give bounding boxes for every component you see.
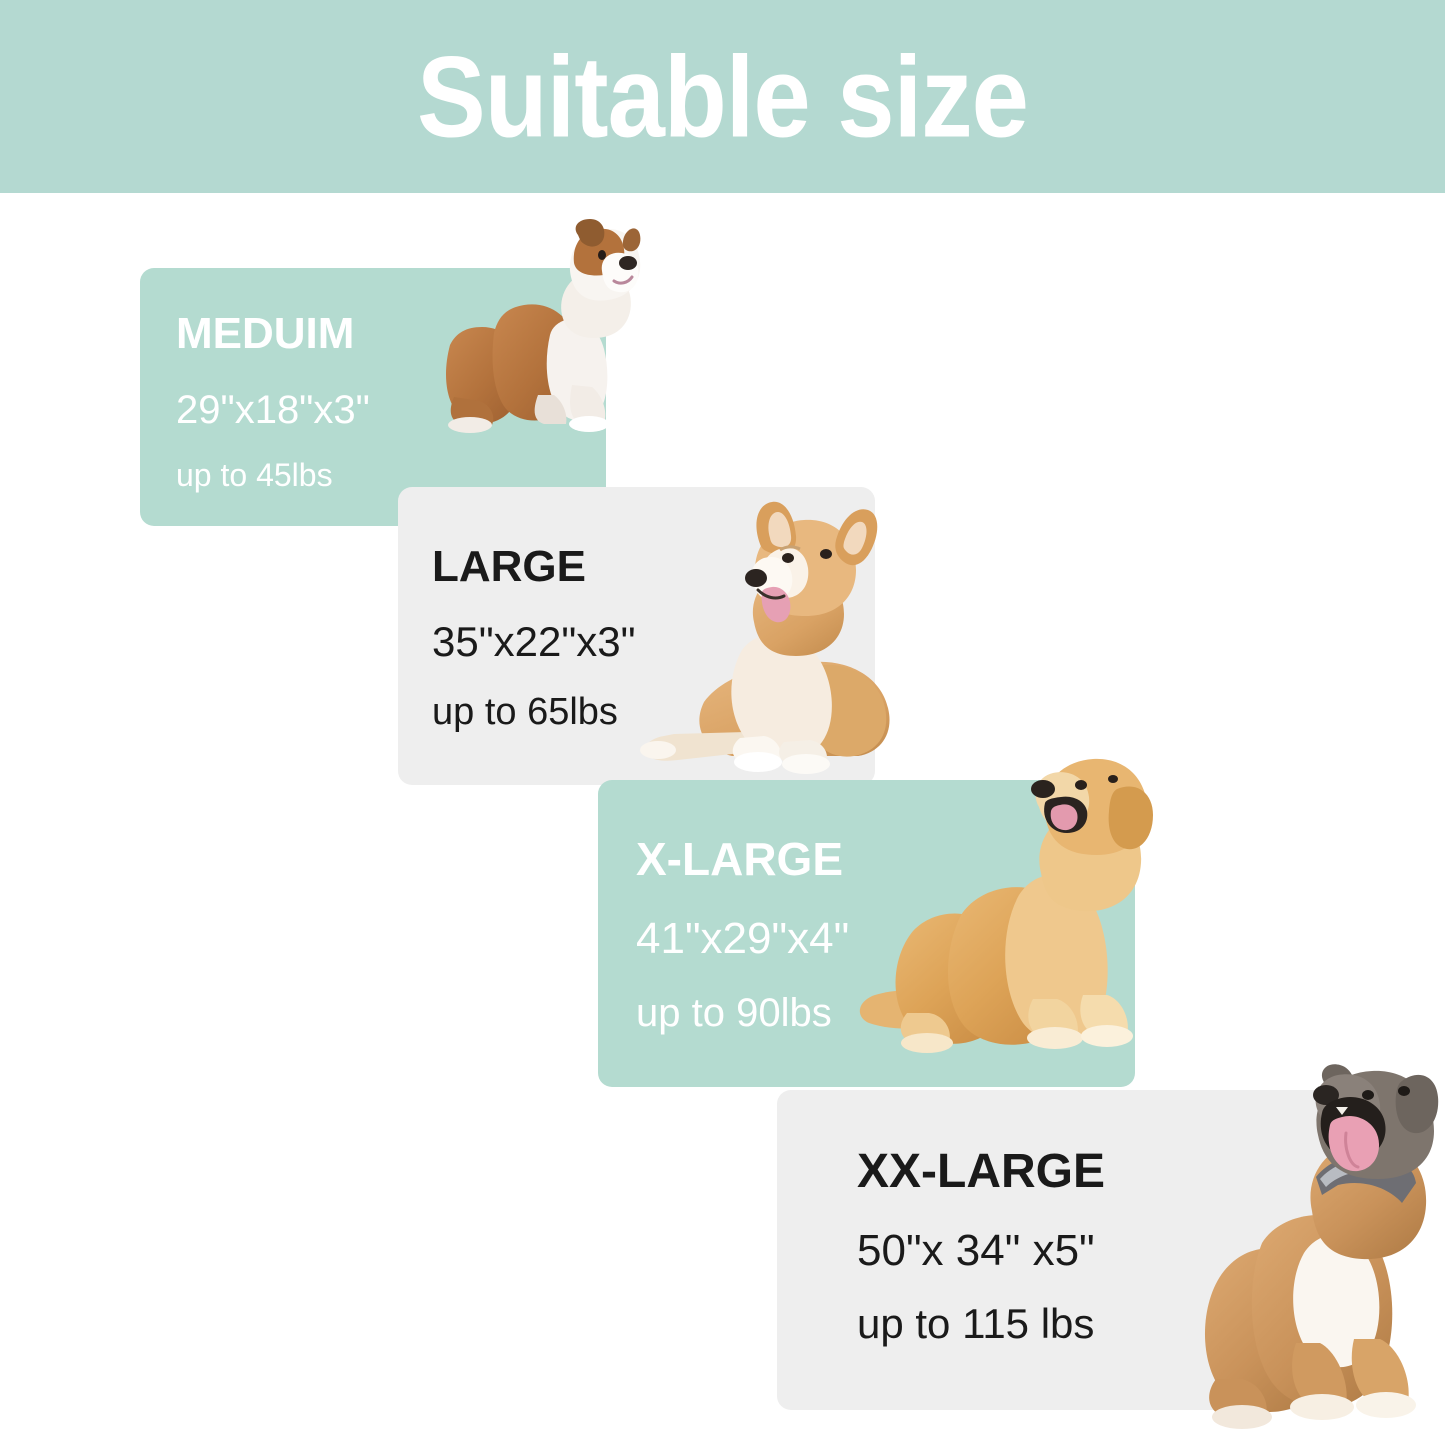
size-card-x-large-name: X-LARGE — [636, 834, 849, 885]
size-card-xx-large[interactable]: XX-LARGE 50"x 34" x5" up to 115 lbs — [777, 1090, 1330, 1410]
page-title: Suitable size — [417, 39, 1028, 154]
size-card-medium-weight: up to 45lbs — [176, 458, 370, 493]
size-chart-page: Suitable size MEDUIM 29"x18"x3" up to 45… — [0, 0, 1445, 1440]
header-banner: Suitable size — [0, 0, 1445, 193]
size-card-x-large-dimensions: 41"x29"x4" — [636, 915, 849, 963]
size-card-large-text: LARGE 35"x22"x3" up to 65lbs — [432, 543, 636, 733]
size-card-x-large[interactable]: X-LARGE 41"x29"x4" up to 90lbs — [598, 780, 1135, 1087]
size-card-large-dimensions: 35"x22"x3" — [432, 619, 636, 665]
size-card-medium-dimensions: 29"x18"x3" — [176, 388, 370, 432]
size-card-large-name: LARGE — [432, 543, 636, 591]
size-card-medium-text: MEDUIM 29"x18"x3" up to 45lbs — [176, 310, 370, 494]
size-card-xx-large-text: XX-LARGE 50"x 34" x5" up to 115 lbs — [857, 1146, 1105, 1347]
size-card-x-large-weight: up to 90lbs — [636, 991, 849, 1035]
size-card-x-large-text: X-LARGE 41"x29"x4" up to 90lbs — [636, 834, 849, 1035]
size-card-large[interactable]: LARGE 35"x22"x3" up to 65lbs — [398, 487, 875, 785]
size-card-xx-large-name: XX-LARGE — [857, 1146, 1105, 1199]
size-card-xx-large-dimensions: 50"x 34" x5" — [857, 1227, 1105, 1275]
size-card-large-weight: up to 65lbs — [432, 692, 636, 734]
size-card-medium-name: MEDUIM — [176, 310, 370, 358]
size-card-xx-large-weight: up to 115 lbs — [857, 1301, 1105, 1347]
